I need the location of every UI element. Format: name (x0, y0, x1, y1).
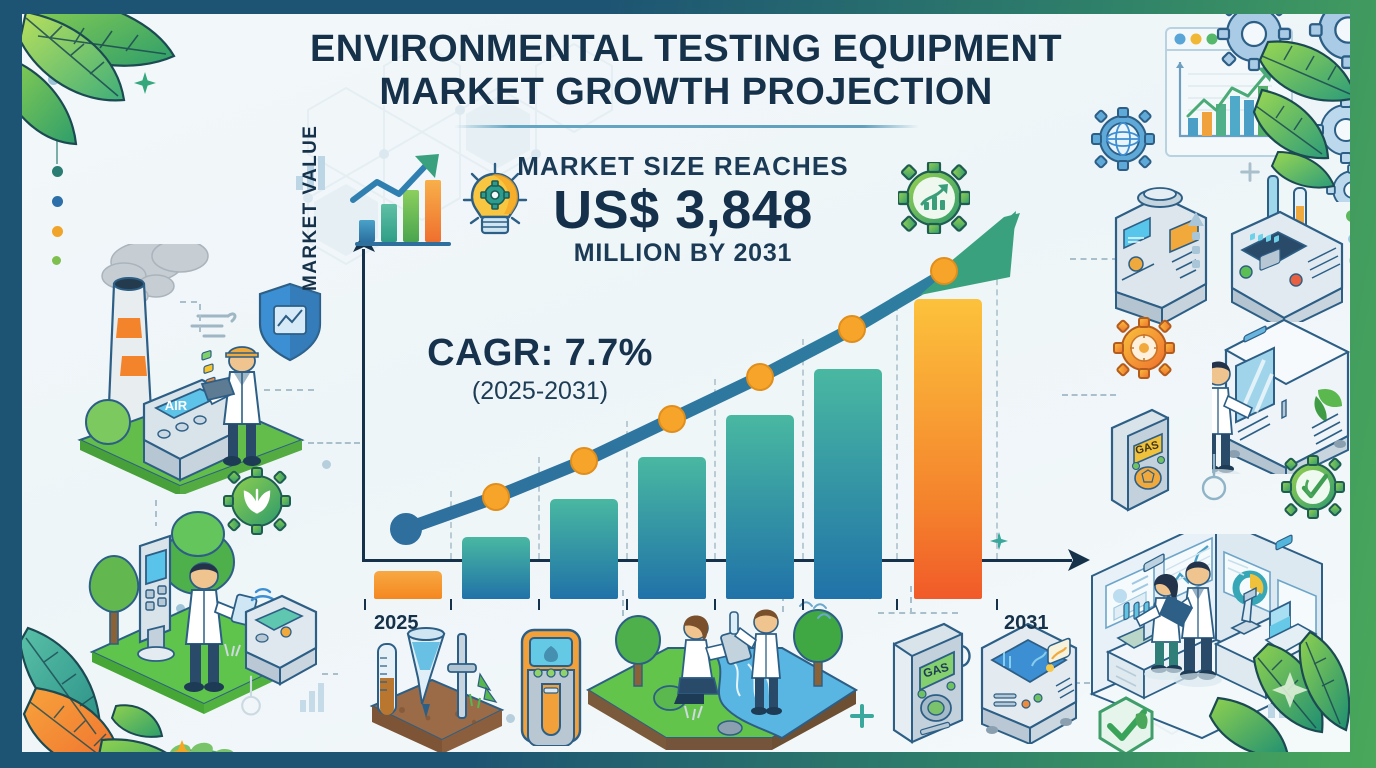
x-tick (996, 599, 998, 610)
leaf-decor-bottom-right (1190, 614, 1350, 752)
x-tick (714, 599, 716, 610)
river-water-sampling-scene (582, 594, 882, 752)
mini-bars-decor (298, 678, 328, 712)
check-shield-icon (1094, 694, 1158, 752)
bar-chart-arrow-icon (347, 154, 462, 254)
title-line-2: MARKET GROWTH PROJECTION (22, 71, 1350, 114)
market-growth-chart: MARKET VALUE (304, 229, 1094, 599)
industrial-air-monitoring-scene: AIR (52, 244, 322, 494)
x-tick (802, 599, 804, 610)
x-axis-label-end: 2031 (1004, 612, 1049, 635)
connector-line (878, 612, 958, 614)
lightbulb-gear-icon (460, 160, 530, 240)
dotted-up-arrow-icon (1186, 212, 1206, 282)
gas-detector-handheld: GAS (1104, 404, 1176, 514)
page-title: ENVIRONMENTAL TESTING EQUIPMENT MARKET G… (22, 28, 1350, 128)
headline-unit-label: MILLION BY 2031 (468, 239, 898, 268)
cagr-period: (2025-2031) (380, 377, 700, 406)
check-gear-icon (1280, 454, 1346, 520)
environmental-test-chamber (1212, 304, 1350, 474)
headline-block: MARKET SIZE REACHES US$ 3,848 MILLION BY… (468, 151, 898, 268)
x-tick (450, 599, 452, 610)
title-line-1: ENVIRONMENTAL TESTING EQUIPMENT (22, 28, 1350, 71)
air-device-screen-label: AIR (165, 398, 188, 413)
gear-growth-chart-icon (898, 162, 970, 234)
handheld-environment-meter (514, 626, 588, 746)
accent-dot (52, 196, 63, 207)
infographic-canvas: ENVIRONMENTAL TESTING EQUIPMENT MARKET G… (22, 14, 1350, 752)
orange-gear-icon (1112, 316, 1176, 380)
gas-detector: GAS (882, 616, 972, 746)
cagr-block: CAGR: 7.7% (2025-2031) (380, 332, 700, 406)
x-tick (364, 599, 366, 610)
headline-value: US$ 3,848 (468, 183, 898, 237)
cagr-value: CAGR: 7.7% (380, 332, 700, 375)
growth-trend-line (304, 229, 1094, 599)
loop-probe-icon (1200, 452, 1228, 502)
title-divider (454, 125, 919, 128)
x-tick (538, 599, 540, 610)
x-tick (896, 599, 898, 610)
infographic-frame: ENVIRONMENTAL TESTING EQUIPMENT MARKET G… (0, 0, 1376, 768)
x-axis-label-start: 2025 (374, 612, 419, 635)
leaf-gear-icon (222, 466, 292, 536)
headline-reaches-label: MARKET SIZE REACHES (468, 151, 898, 182)
accent-dot (52, 226, 63, 237)
loop-probe-icon (238, 674, 264, 718)
x-tick (626, 599, 628, 610)
